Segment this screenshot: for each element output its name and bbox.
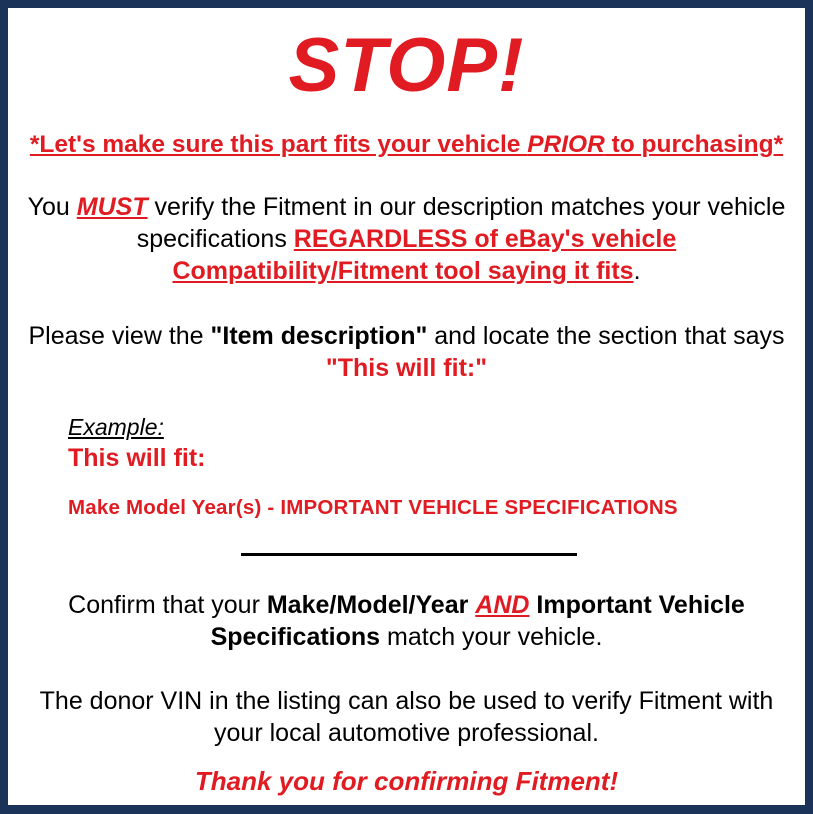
make-model-year-emphasis: Make/Model/Year	[267, 591, 475, 619]
must-verify-paragraph: You MUST verify the Fitment in our descr…	[22, 160, 791, 287]
vin-paragraph: The donor VIN in the listing can also be…	[22, 653, 791, 749]
and-emphasis: AND	[475, 591, 529, 619]
thanks-line: Thank you for confirming Fitment!	[22, 749, 791, 797]
this-will-fit-quote: "This will fit:"	[326, 354, 487, 382]
example-fit-header: This will fit:	[68, 441, 791, 473]
fitment-notice-banner: STOP! *Let's make sure this part fits yo…	[0, 0, 813, 814]
example-label: Example:	[68, 413, 164, 441]
item-description-emphasis: "Item description"	[211, 322, 428, 350]
divider	[22, 521, 791, 561]
must-emphasis: MUST	[77, 193, 148, 221]
example-block: Example: This will fit: Make Model Year(…	[22, 384, 791, 521]
notice-panel: STOP! *Let's make sure this part fits yo…	[8, 8, 805, 805]
must-part1: You	[28, 193, 77, 221]
desc-part1: Please view the	[28, 322, 210, 350]
tagline: *Let's make sure this part fits your veh…	[22, 108, 791, 160]
confirm-part1: Confirm that your	[68, 591, 267, 619]
tagline-before: *Let's make sure this part fits your veh…	[30, 131, 527, 158]
example-spec-line: Make Model Year(s) - IMPORTANT VEHICLE S…	[68, 473, 791, 521]
confirm-paragraph: Confirm that your Make/Model/Year AND Im…	[22, 561, 791, 653]
divider-line	[241, 553, 577, 556]
stop-heading: STOP!	[22, 8, 791, 108]
tagline-after: to purchasing*	[605, 131, 783, 158]
must-part3: .	[634, 257, 641, 285]
item-description-paragraph: Please view the "Item description" and l…	[22, 287, 791, 384]
confirm-part2: match your vehicle.	[380, 623, 602, 651]
tagline-emphasis-prior: PRIOR	[527, 131, 605, 158]
desc-part2: and locate the section that says	[427, 322, 784, 350]
